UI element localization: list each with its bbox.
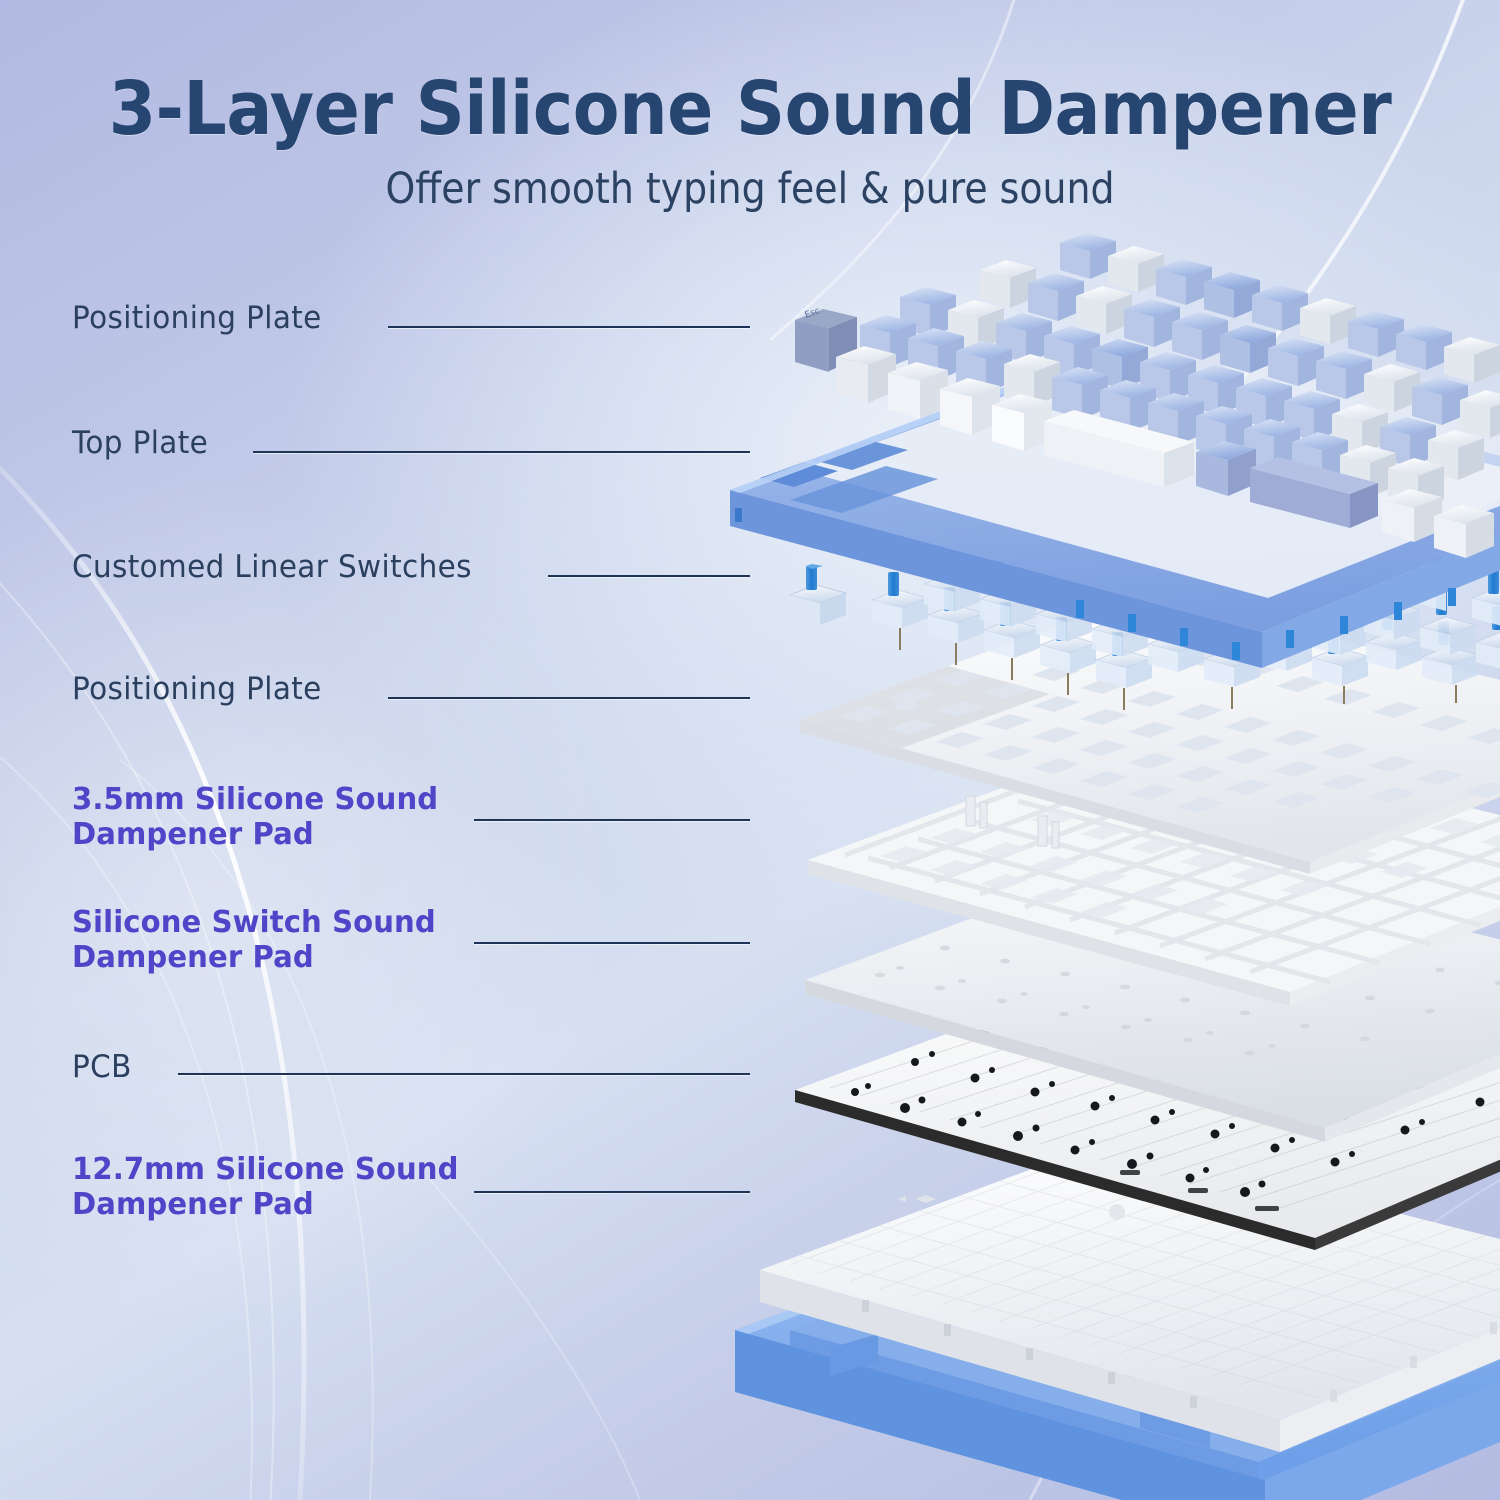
callout-label: 12.7mm Silicone Sound Dampener Pad xyxy=(72,1152,459,1223)
callout-12-7mm-silicone-pad: 12.7mm Silicone Sound Dampener Pad xyxy=(72,1152,471,1223)
callout-positioning-plate-top: Positioning Plate xyxy=(72,300,335,337)
infographic-page: 3-Layer Silicone Sound Dampener Offer sm… xyxy=(0,0,1500,1500)
callout-label: Positioning Plate xyxy=(72,300,322,337)
callout-pcb: PCB xyxy=(72,1049,135,1086)
callout-label: 3.5mm Silicone Sound Dampener Pad xyxy=(72,782,438,853)
leader-line-customed-linear-switches xyxy=(548,575,750,577)
callout-silicone-switch-pad: Silicone Switch Sound Dampener Pad xyxy=(72,905,447,976)
callout-label: PCB xyxy=(72,1049,132,1086)
callout-label: Top Plate xyxy=(72,425,208,462)
leader-line-positioning-plate-top xyxy=(388,326,750,328)
callout-3-5mm-silicone-pad: 3.5mm Silicone Sound Dampener Pad xyxy=(72,782,450,853)
callout-customed-linear-switches: Customed Linear Switches xyxy=(72,549,493,586)
leader-line-3-5mm-silicone-pad xyxy=(474,819,750,821)
leader-line-silicone-switch-pad xyxy=(474,942,750,944)
leader-line-positioning-plate-lower xyxy=(388,697,750,699)
callout-label: Positioning Plate xyxy=(72,671,322,708)
callout-label: Customed Linear Switches xyxy=(72,549,472,586)
exploded-keyboard-illustration: Esc xyxy=(0,0,1500,1500)
callout-positioning-plate-lower: Positioning Plate xyxy=(72,671,335,708)
leader-line-pcb xyxy=(178,1073,750,1075)
leader-line-12-7mm-silicone-pad xyxy=(474,1191,750,1193)
callout-top-plate: Top Plate xyxy=(72,425,215,462)
single-switch xyxy=(790,564,846,625)
leader-line-top-plate xyxy=(253,451,750,453)
callout-label: Silicone Switch Sound Dampener Pad xyxy=(72,905,436,976)
